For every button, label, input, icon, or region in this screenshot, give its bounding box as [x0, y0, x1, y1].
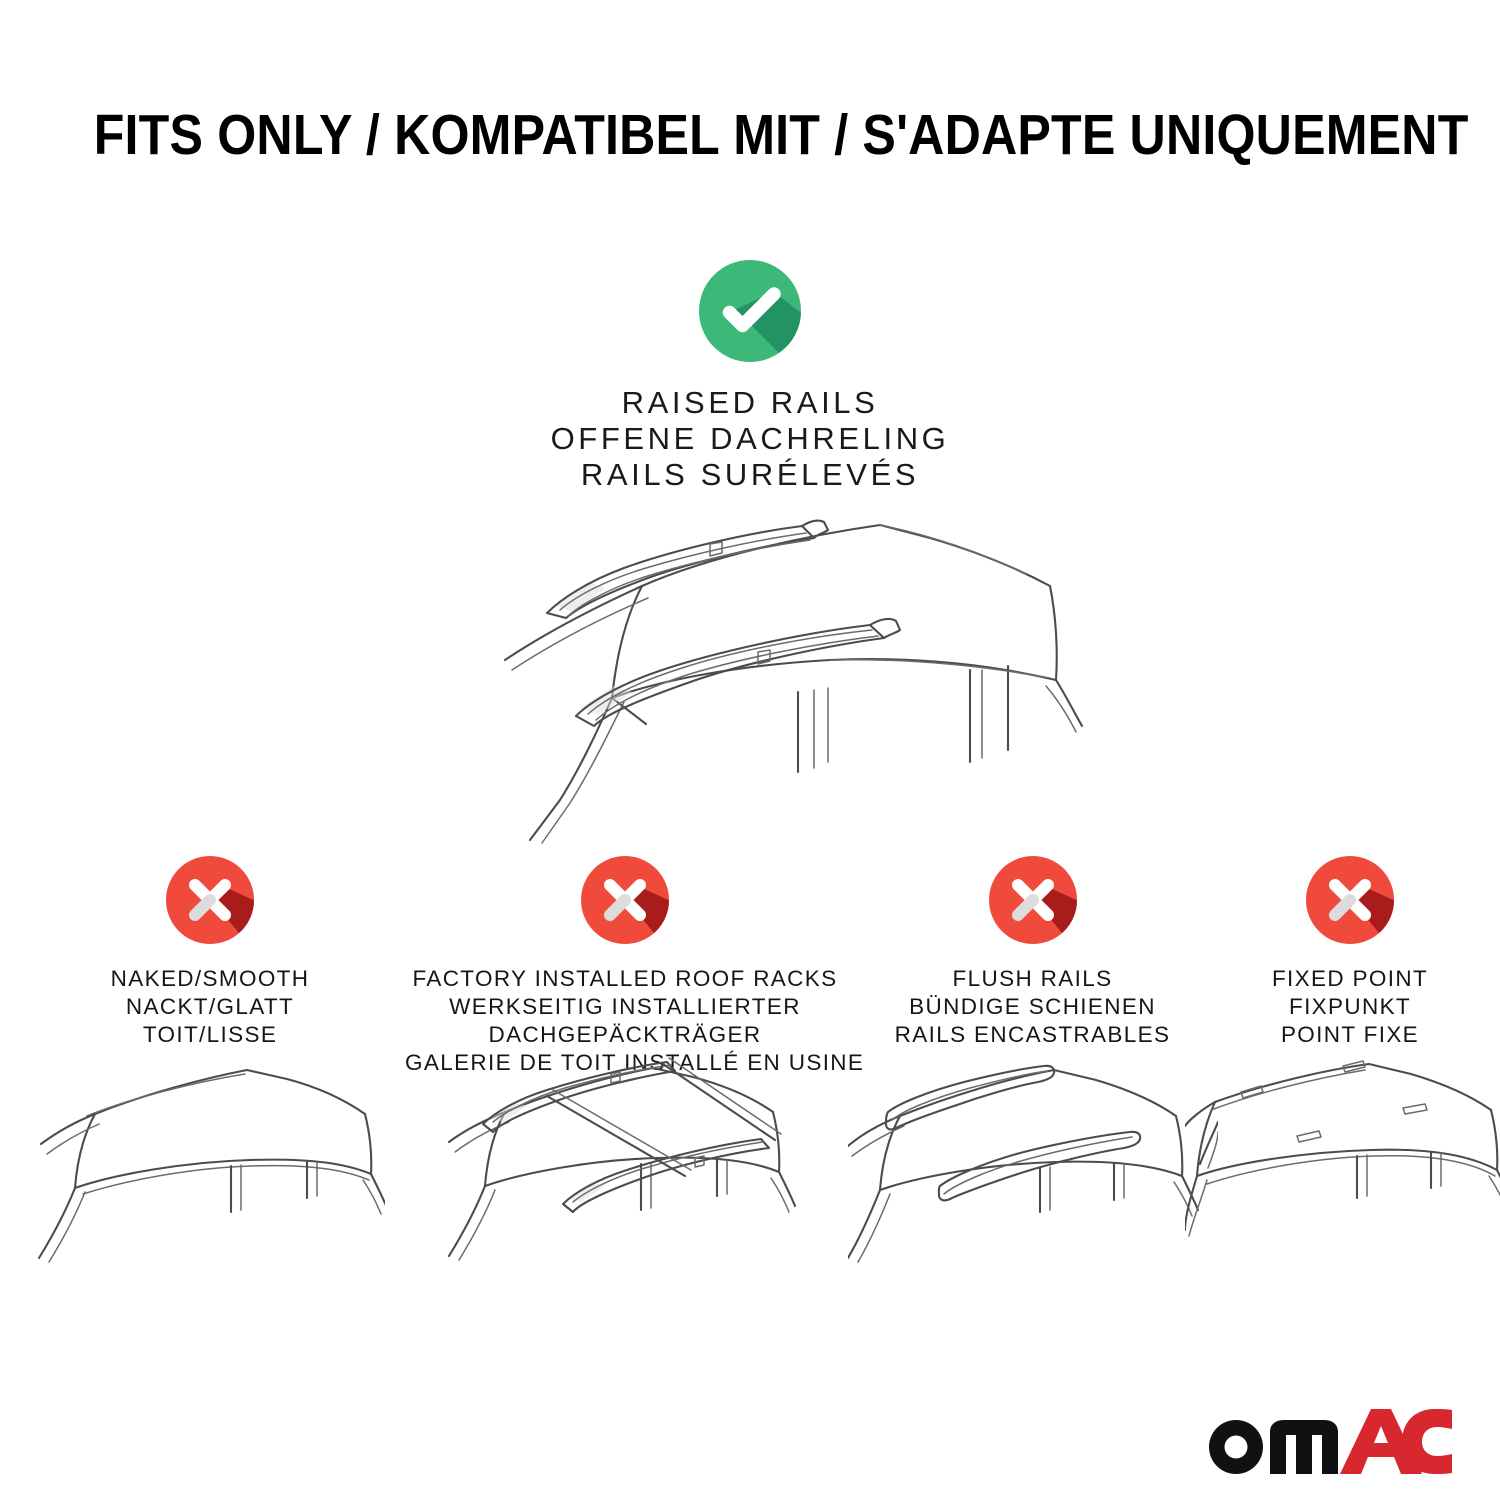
incompatible-label-fr: TOIT/LISSE [20, 1021, 400, 1049]
incompatible-label-de: BÜNDIGE SCHIENEN [855, 993, 1210, 1021]
check-circle-icon [695, 256, 805, 366]
incompatible-label-de-2: DACHGEPÄCKTRÄGER [405, 1021, 845, 1049]
incompatible-labels: NAKED/SMOOTH NACKT/GLATT TOIT/LISSE [20, 965, 400, 1049]
incompatible-column-flush-rails: FLUSH RAILS BÜNDIGE SCHIENEN RAILS ENCAS… [855, 852, 1210, 1049]
incompatible-column-factory-racks: FACTORY INSTALLED ROOF RACKS WERKSEITIG … [405, 852, 845, 1077]
cross-circle-icon [162, 852, 258, 948]
compatible-label-de: OFFENE DACHRELING [0, 421, 1500, 457]
incompatible-labels: FIXED POINT FIXPUNKT POINT FIXE [1215, 965, 1485, 1049]
incompatible-section: NAKED/SMOOTH NACKT/GLATT TOIT/LISSE [0, 852, 1500, 1472]
page-title: FITS ONLY / KOMPATIBEL MIT / S'ADAPTE UN… [0, 104, 1500, 166]
cross-circle-icon [577, 852, 673, 948]
page-title-text: FITS ONLY / KOMPATIBEL MIT / S'ADAPTE UN… [94, 104, 1469, 166]
incompatible-labels: FLUSH RAILS BÜNDIGE SCHIENEN RAILS ENCAS… [855, 965, 1210, 1049]
incompatible-label-fr: POINT FIXE [1215, 1021, 1485, 1049]
car-roof-naked-smooth-illustration [35, 1052, 385, 1282]
cross-circle-icon [1302, 852, 1398, 948]
incompatible-label-en: FLUSH RAILS [855, 965, 1210, 993]
incompatible-label-de-1: WERKSEITIG INSTALLIERTER [405, 993, 845, 1021]
compatible-section: RAISED RAILS OFFENE DACHRELING RAILS SUR… [0, 256, 1500, 493]
logo-letter-o [1209, 1420, 1263, 1474]
logo-letter-m [1270, 1420, 1338, 1474]
car-roof-raised-rails-illustration [410, 500, 1110, 850]
car-roof-factory-racks-illustration [435, 1052, 815, 1282]
compatible-labels: RAISED RAILS OFFENE DACHRELING RAILS SUR… [0, 385, 1500, 493]
incompatible-label-de: FIXPUNKT [1215, 993, 1485, 1021]
car-roof-fixed-point-illustration [1185, 1052, 1500, 1282]
incompatible-label-fr: RAILS ENCASTRABLES [855, 1021, 1210, 1049]
cross-circle-icon [985, 852, 1081, 948]
incompatible-label-en: NAKED/SMOOTH [20, 965, 400, 993]
incompatible-column-fixed-point: FIXED POINT FIXPUNKT POINT FIXE [1215, 852, 1485, 1049]
compatible-label-fr: RAILS SURÉLEVÉS [0, 457, 1500, 493]
car-roof-flush-rails-illustration [848, 1052, 1218, 1282]
incompatible-label-en: FIXED POINT [1215, 965, 1485, 993]
compatible-label-en: RAISED RAILS [0, 385, 1500, 421]
incompatible-label-de: NACKT/GLATT [20, 993, 400, 1021]
incompatible-column-naked-smooth: NAKED/SMOOTH NACKT/GLATT TOIT/LISSE [20, 852, 400, 1049]
incompatible-label-en: FACTORY INSTALLED ROOF RACKS [405, 965, 845, 993]
omac-logo [1200, 1407, 1452, 1475]
